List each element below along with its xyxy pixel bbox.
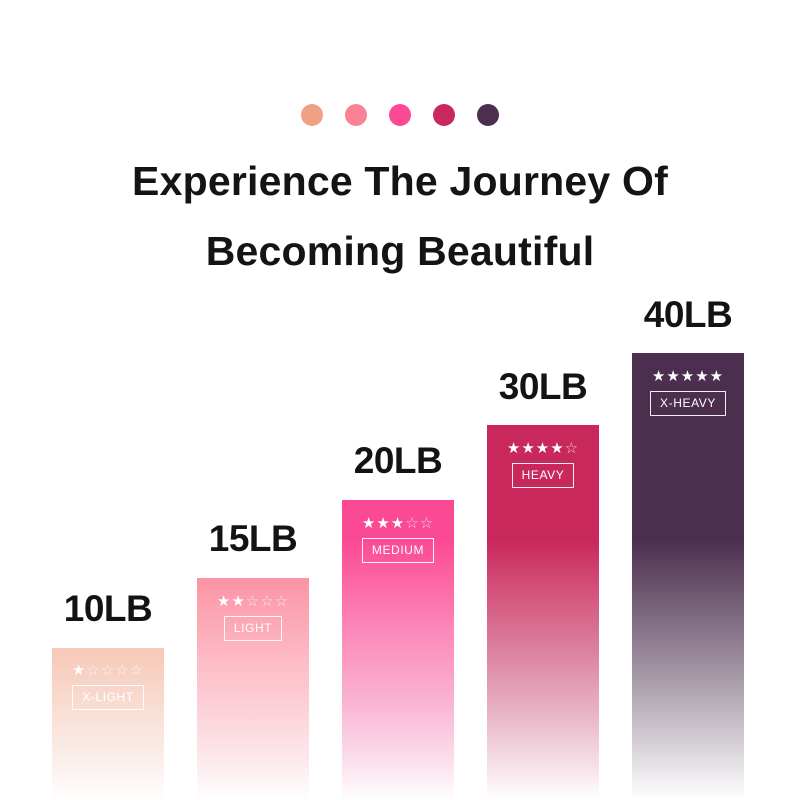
star-filled-icon: ★ bbox=[695, 368, 709, 385]
star-empty-icon: ☆ bbox=[405, 515, 419, 532]
star-filled-icon: ★ bbox=[507, 440, 521, 457]
product-poster: Experience The Journey Of Becoming Beaut… bbox=[0, 0, 800, 800]
star-rating-icon: ★☆☆☆☆ bbox=[72, 663, 144, 678]
bar-group-heavy: ★★★★☆HEAVY bbox=[487, 425, 599, 800]
star-rating-icon: ★★★★★ bbox=[652, 369, 724, 384]
star-filled-icon: ★ bbox=[521, 440, 535, 457]
star-filled-icon: ★ bbox=[681, 368, 695, 385]
star-empty-icon: ☆ bbox=[246, 593, 260, 610]
star-empty-icon: ☆ bbox=[86, 662, 100, 679]
resistance-level-badge: X-HEAVY bbox=[650, 391, 726, 416]
bar-weight-label: 20LB bbox=[342, 440, 454, 482]
bar-label-block: ★★★★☆HEAVY bbox=[487, 441, 599, 488]
resistance-level-badge: X-LIGHT bbox=[72, 685, 144, 710]
star-filled-icon: ★ bbox=[536, 440, 550, 457]
bar-label-block: ★☆☆☆☆X-LIGHT bbox=[52, 663, 164, 710]
star-empty-icon: ☆ bbox=[101, 662, 115, 679]
bar-label-block: ★★★★★X-HEAVY bbox=[632, 369, 744, 416]
star-filled-icon: ★ bbox=[362, 515, 376, 532]
bar-bottom-fade bbox=[487, 540, 599, 800]
star-filled-icon: ★ bbox=[652, 368, 666, 385]
bar-bottom-fade bbox=[342, 540, 454, 800]
bar-group-medium: ★★★☆☆MEDIUM bbox=[342, 500, 454, 800]
star-empty-icon: ☆ bbox=[275, 593, 289, 610]
star-rating-icon: ★★★☆☆ bbox=[362, 516, 434, 531]
bar-weight-label: 30LB bbox=[487, 366, 599, 408]
star-empty-icon: ☆ bbox=[260, 593, 274, 610]
star-filled-icon: ★ bbox=[72, 662, 86, 679]
bar-weight-label: 40LB bbox=[632, 294, 744, 336]
star-filled-icon: ★ bbox=[550, 440, 564, 457]
resistance-level-badge: LIGHT bbox=[224, 616, 282, 641]
star-rating-icon: ★★☆☆☆ bbox=[217, 594, 289, 609]
star-filled-icon: ★ bbox=[391, 515, 405, 532]
bar-x-heavy[interactable] bbox=[632, 353, 744, 800]
bar-group-x-heavy: ★★★★★X-HEAVY bbox=[632, 353, 744, 800]
resistance-band-bar-chart: ★☆☆☆☆X-LIGHT10LB★★☆☆☆LIGHT15LB★★★☆☆MEDIU… bbox=[0, 0, 800, 800]
resistance-level-badge: MEDIUM bbox=[362, 538, 434, 563]
star-empty-icon: ☆ bbox=[420, 515, 434, 532]
star-empty-icon: ☆ bbox=[115, 662, 129, 679]
resistance-level-badge: HEAVY bbox=[512, 463, 575, 488]
star-filled-icon: ★ bbox=[666, 368, 680, 385]
star-rating-icon: ★★★★☆ bbox=[507, 441, 579, 456]
bar-group-x-light: ★☆☆☆☆X-LIGHT bbox=[52, 648, 164, 800]
bar-weight-label: 10LB bbox=[52, 588, 164, 630]
bar-bottom-fade bbox=[632, 540, 744, 800]
bar-group-light: ★★☆☆☆LIGHT bbox=[197, 578, 309, 800]
star-empty-icon: ☆ bbox=[565, 440, 579, 457]
star-filled-icon: ★ bbox=[710, 368, 724, 385]
bar-weight-label: 15LB bbox=[197, 518, 309, 560]
star-filled-icon: ★ bbox=[231, 593, 245, 610]
star-empty-icon: ☆ bbox=[130, 662, 144, 679]
star-filled-icon: ★ bbox=[376, 515, 390, 532]
bar-label-block: ★★☆☆☆LIGHT bbox=[197, 594, 309, 641]
star-filled-icon: ★ bbox=[217, 593, 231, 610]
bar-label-block: ★★★☆☆MEDIUM bbox=[342, 516, 454, 563]
